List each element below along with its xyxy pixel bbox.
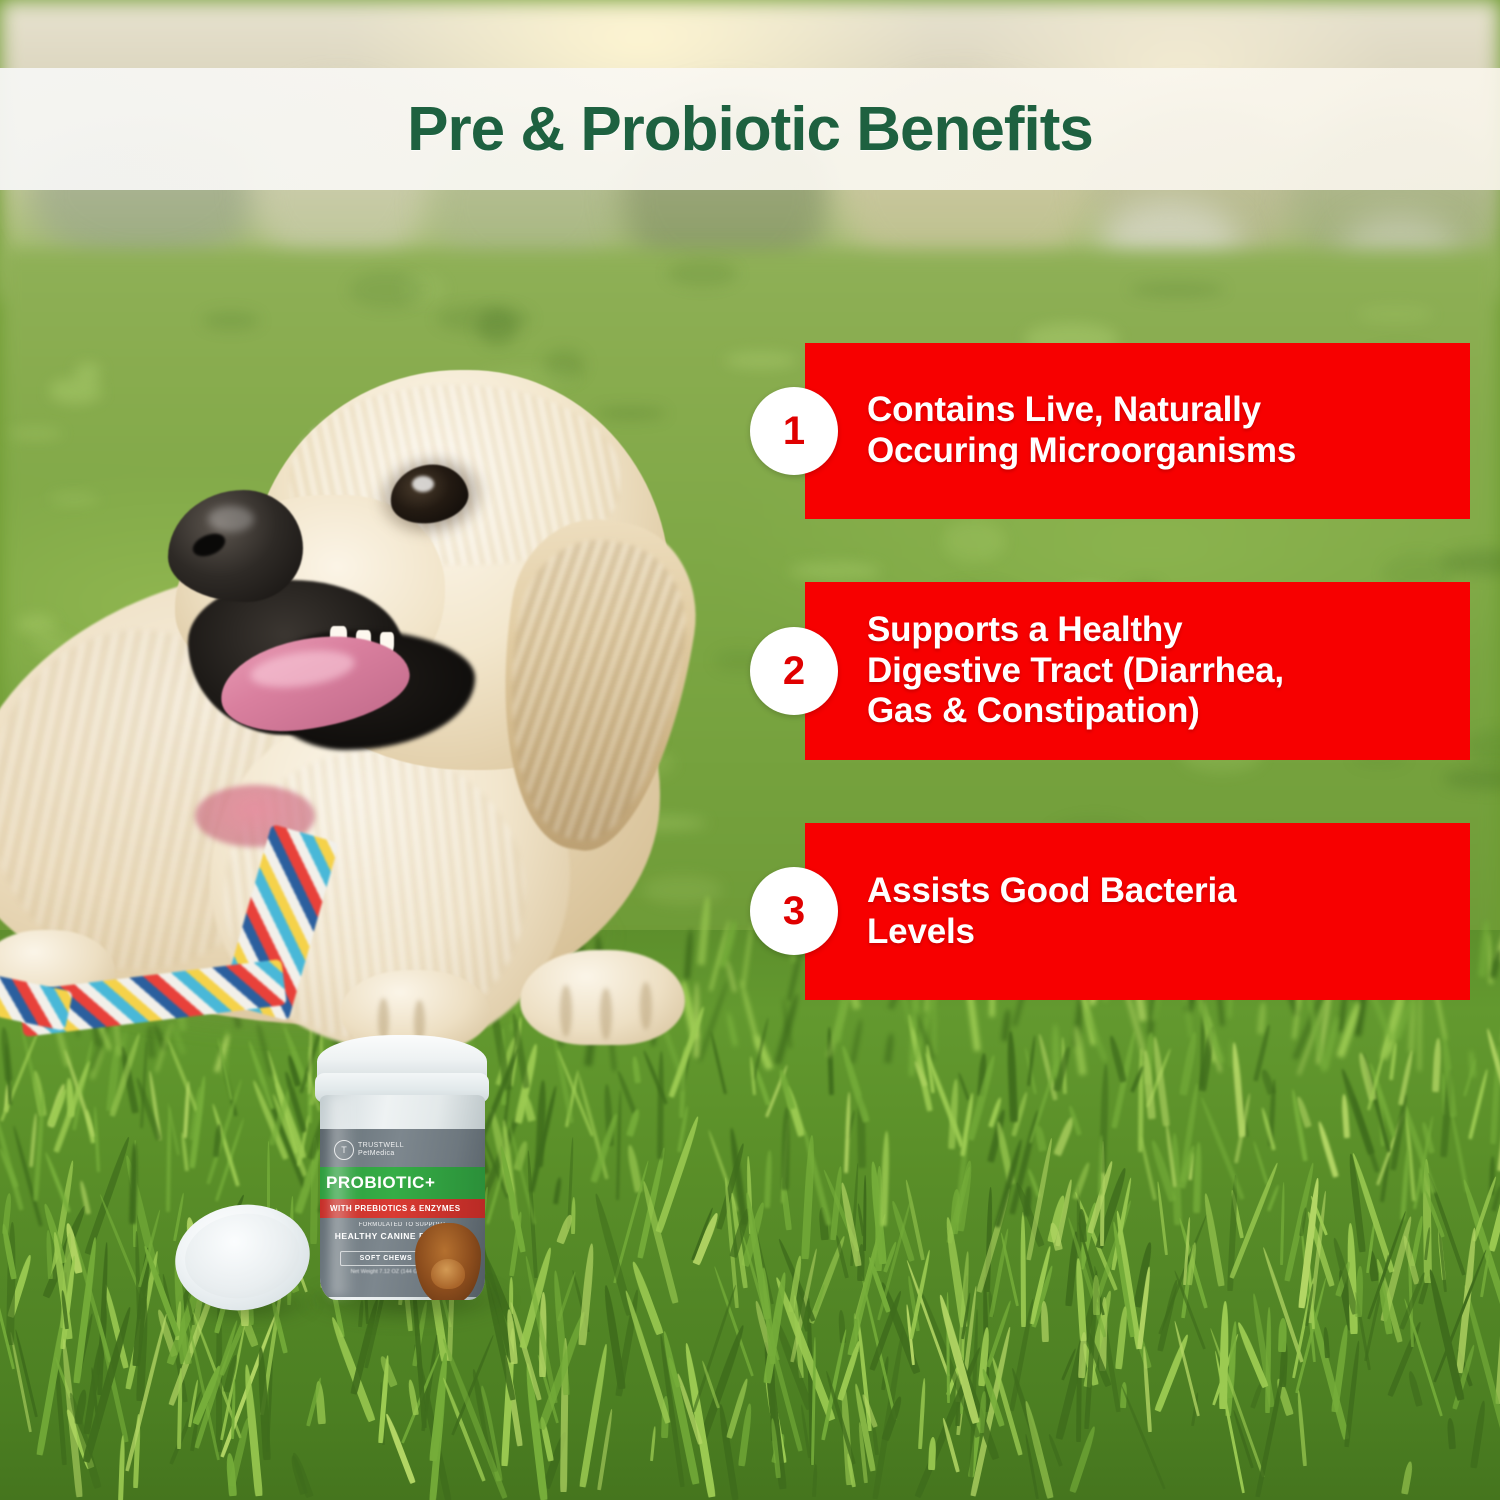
- benefit-box-3[interactable]: Assists Good Bacteria Levels: [805, 823, 1470, 1000]
- header-band: Pre & Probiotic Benefits: [0, 68, 1500, 190]
- benefit-badge-2: 2: [750, 627, 838, 715]
- benefit-badge-3: 3: [750, 867, 838, 955]
- benefit-badge-1: 1: [750, 387, 838, 475]
- jar-gloss: [331, 1097, 357, 1297]
- dog-eye-highlight: [412, 476, 434, 492]
- dog-nose-highlight: [208, 506, 254, 532]
- label-dog-face: [431, 1259, 465, 1289]
- benefit-box-1[interactable]: Contains Live, Naturally Occuring Microo…: [805, 343, 1470, 519]
- brand-name-line1: TRUSTWELL: [358, 1142, 404, 1150]
- product-jar: T TRUSTWELL PetMedica PROBIOTIC+ WITH PR…: [315, 1035, 490, 1300]
- benefit-text-2: Supports a Healthy Digestive Tract (Diar…: [805, 610, 1300, 732]
- label-dog-photo: [415, 1223, 481, 1300]
- benefit-text-1: Contains Live, Naturally Occuring Microo…: [805, 390, 1312, 471]
- benefit-box-2[interactable]: Supports a Healthy Digestive Tract (Diar…: [805, 582, 1470, 760]
- golden-retriever-dog: [0, 330, 780, 1090]
- benefit-text-3: Assists Good Bacteria Levels: [805, 871, 1252, 952]
- jar-lid-inner: [180, 1206, 306, 1305]
- product-benefits-graphic: T TRUSTWELL PetMedica PROBIOTIC+ WITH PR…: [0, 0, 1500, 1500]
- brand-name-line2: PetMedica: [358, 1150, 404, 1158]
- brand-name: TRUSTWELL PetMedica: [358, 1142, 404, 1158]
- dog-paw-toe: [600, 988, 612, 1040]
- dog-paw-toe: [560, 985, 572, 1037]
- dog-paw-toe: [640, 982, 652, 1030]
- page-title: Pre & Probiotic Benefits: [407, 94, 1093, 165]
